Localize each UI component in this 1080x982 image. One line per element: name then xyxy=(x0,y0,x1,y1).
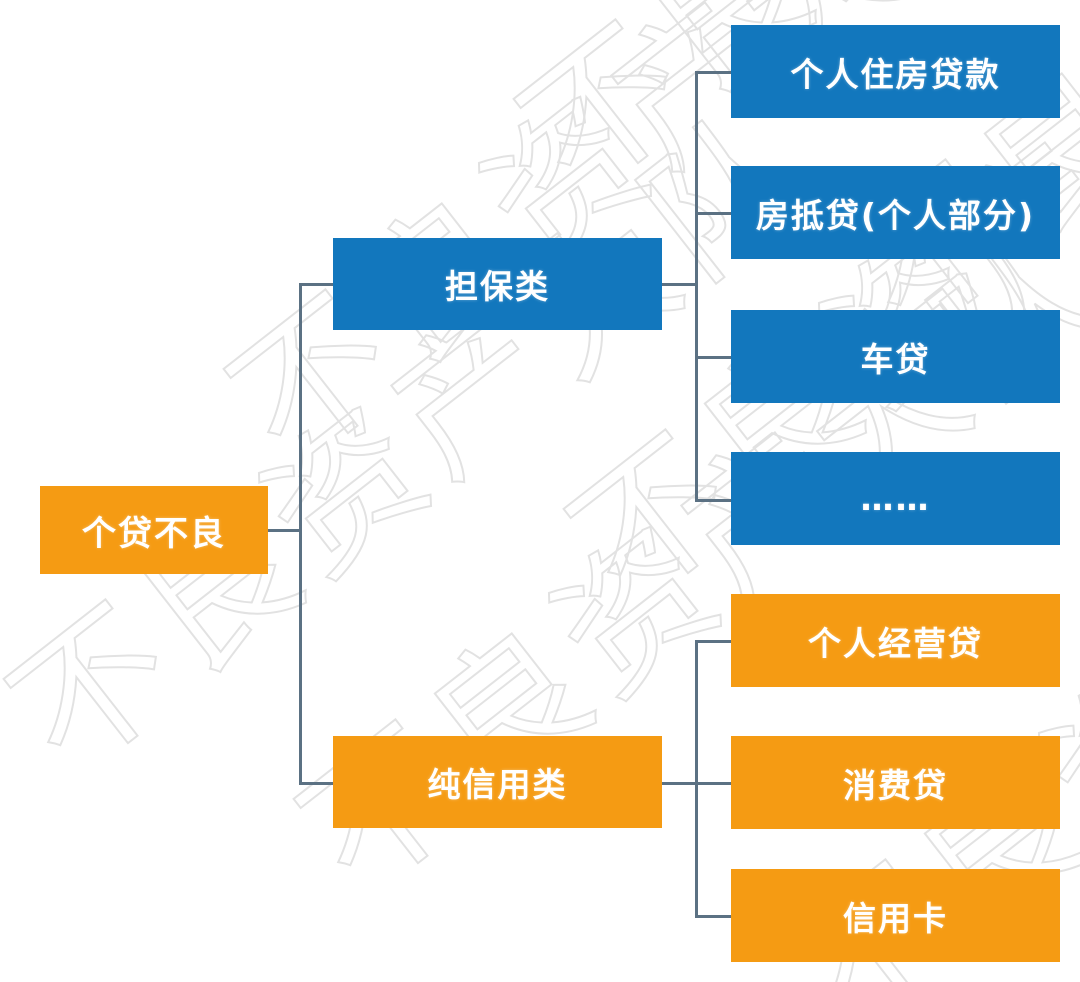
connector-branch-2-trunk xyxy=(695,640,698,917)
node-leaf-consumer-loan[interactable]: 消费贷 xyxy=(731,736,1060,829)
node-root[interactable]: 个贷不良 xyxy=(40,486,268,574)
node-leaf-label: 消费贷 xyxy=(843,759,948,807)
connector-branch-1-trunk xyxy=(695,71,698,502)
node-branch-2[interactable]: 纯信用类 xyxy=(333,736,662,828)
node-leaf-credit-card[interactable]: 信用卡 xyxy=(731,869,1060,962)
node-branch-2-label: 纯信用类 xyxy=(428,758,568,806)
node-leaf-car-loan[interactable]: 车贷 xyxy=(731,310,1060,403)
node-leaf-label: 个人住房贷款 xyxy=(791,48,1001,96)
node-leaf-label: …… xyxy=(861,479,931,518)
node-branch-1-label: 担保类 xyxy=(445,260,550,308)
connector-branch-1-leaf-3 xyxy=(695,356,731,359)
node-leaf-label: 个人经营贷 xyxy=(808,617,983,665)
node-leaf-mortgage-personal-part[interactable]: 房抵贷(个人部分) xyxy=(731,166,1060,259)
connector-trunk-to-branch-1 xyxy=(299,283,334,286)
node-leaf-label: 车贷 xyxy=(861,333,931,381)
connector-trunk-to-branch-2 xyxy=(299,782,334,785)
connector-branch-1-leaf-4 xyxy=(695,499,731,502)
node-branch-1[interactable]: 担保类 xyxy=(333,238,662,330)
connector-branch-2-leaf-3 xyxy=(695,915,731,918)
connector-branch-1-stub xyxy=(661,283,697,286)
node-leaf-label: 信用卡 xyxy=(843,892,948,940)
connector-branch-2-leaf-2 xyxy=(695,782,731,785)
node-leaf-label: 房抵贷(个人部分) xyxy=(756,189,1035,237)
connector-branch-1-leaf-2 xyxy=(695,212,731,215)
connector-branch-2-stub xyxy=(661,782,697,785)
diagram-canvas: 不良资产大队 不良资产大队 不良资产大队 不良资产大队 不良资产大队 不良资产大… xyxy=(0,0,1080,982)
node-leaf-personal-housing-loan[interactable]: 个人住房贷款 xyxy=(731,25,1060,118)
watermark-text: 不良资产大队 xyxy=(0,49,850,811)
node-leaf-ellipsis[interactable]: …… xyxy=(731,452,1060,545)
connector-branch-1-leaf-1 xyxy=(695,71,731,74)
node-leaf-personal-business-loan[interactable]: 个人经营贷 xyxy=(731,594,1060,687)
connector-root-stub xyxy=(268,529,302,532)
node-root-label: 个贷不良 xyxy=(82,506,226,555)
connector-branch-2-leaf-1 xyxy=(695,640,731,643)
connector-main-trunk xyxy=(299,283,302,785)
